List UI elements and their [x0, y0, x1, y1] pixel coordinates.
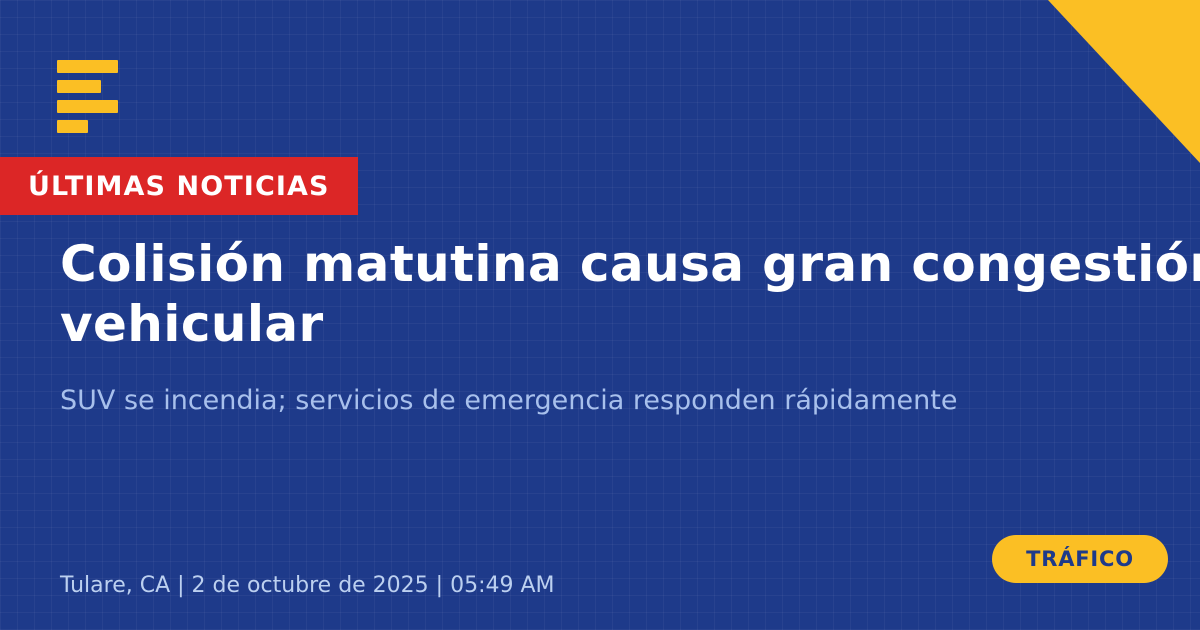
- breaking-news-label: ÚLTIMAS NOTICIAS: [28, 173, 330, 200]
- logo-bar-medium: [57, 80, 101, 93]
- headline: Colisión matutina causa gran congestión …: [60, 234, 1200, 354]
- logo-bar-long-1: [57, 60, 118, 73]
- logo-bar-short: [57, 120, 88, 133]
- breaking-news-card: ÚLTIMAS NOTICIAS Colisión matutina causa…: [0, 0, 1200, 630]
- category-badge: TRÁFICO: [992, 535, 1168, 583]
- footer-meta: Tulare, CA | 2 de octubre de 2025 | 05:4…: [60, 575, 555, 597]
- corner-triangle-decoration: [1048, 0, 1200, 163]
- subtitle: SUV se incendia; servicios de emergencia…: [60, 383, 1140, 418]
- breaking-news-badge: ÚLTIMAS NOTICIAS: [0, 157, 358, 215]
- four-bar-logo: [57, 60, 118, 133]
- logo-bar-long-2: [57, 100, 118, 113]
- category-label: TRÁFICO: [1026, 549, 1134, 570]
